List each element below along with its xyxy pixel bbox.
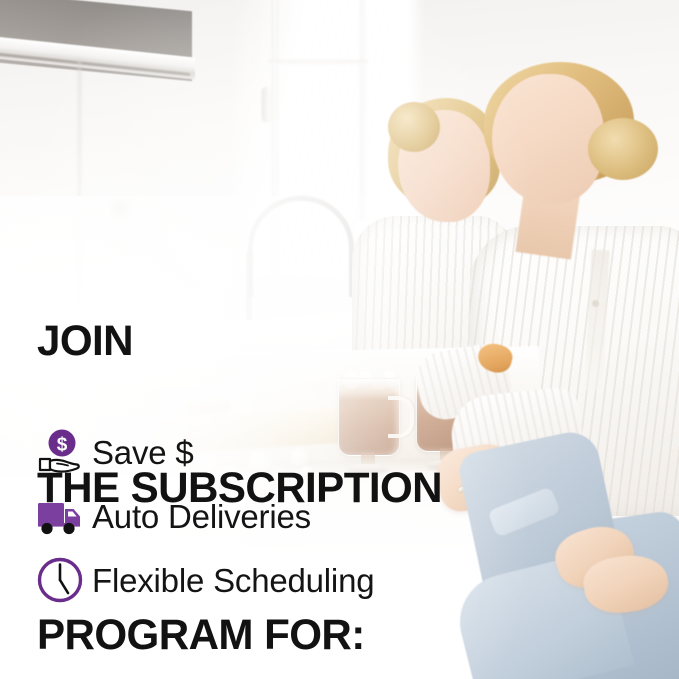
promo-card: JOIN THE SUBSCRIPTION PROGRAM FOR: $ Sav… [0,0,679,679]
promo-content: JOIN THE SUBSCRIPTION PROGRAM FOR: $ Sav… [0,0,679,679]
clock-icon [32,554,88,606]
headline-line-1: JOIN [37,317,442,366]
delivery-truck-icon [32,490,88,542]
benefit-label-auto-deliveries: Auto Deliveries [88,500,311,533]
benefit-label-flexible-scheduling: Flexible Scheduling [88,564,374,597]
benefit-item-auto-deliveries: Auto Deliveries [32,484,374,548]
svg-text:$: $ [57,435,68,456]
benefit-item-save: $ Save $ [32,420,374,484]
headline-line-3: PROGRAM FOR: [37,611,442,660]
hand-holding-coin-icon: $ [32,426,88,478]
benefits-list: $ Save $ [32,420,374,612]
benefit-label-save: Save $ [88,436,194,469]
benefit-item-flexible-scheduling: Flexible Scheduling [32,548,374,612]
